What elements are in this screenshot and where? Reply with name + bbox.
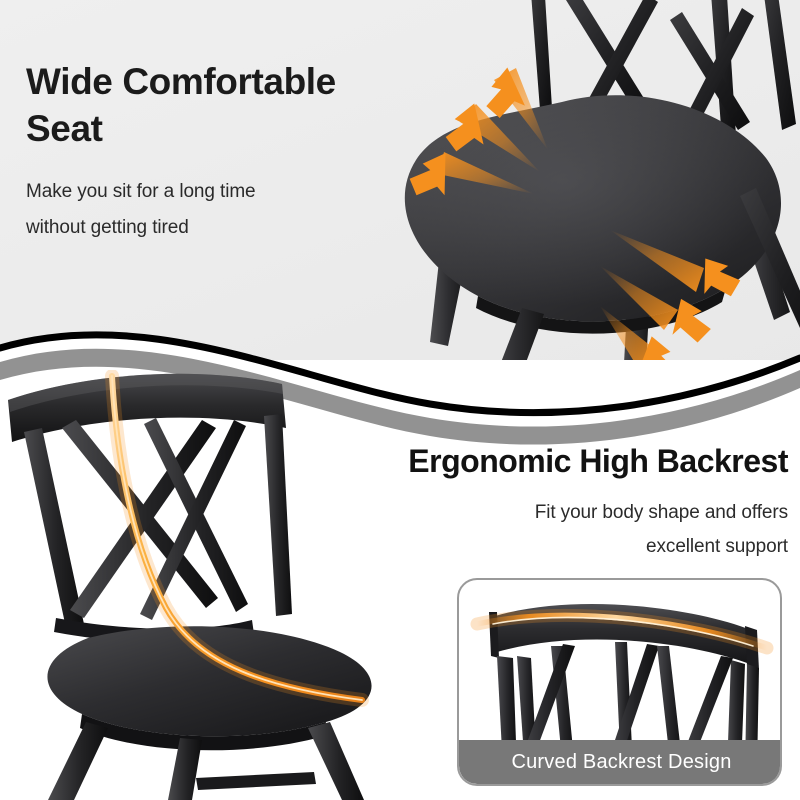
card-label: Curved Backrest Design: [459, 740, 782, 784]
top-text-block: Wide Comfortable Seat Make you sit for a…: [26, 58, 426, 246]
top-subtext: Make you sit for a long time without get…: [26, 174, 426, 246]
top-heading-line-2: Seat: [26, 105, 426, 152]
arrow-head-4: [695, 259, 744, 304]
curved-backrest-card: Curved Backrest Design: [457, 578, 782, 786]
top-subtext-line-2: without getting tired: [26, 210, 426, 246]
top-heading: Wide Comfortable Seat: [26, 58, 426, 152]
top-heading-line-1: Wide Comfortable: [26, 58, 426, 105]
top-subtext-line-1: Make you sit for a long time: [26, 174, 426, 210]
bottom-chair-side-profile-image: [0, 370, 410, 800]
infographic-stage: Wide Comfortable Seat Make you sit for a…: [0, 0, 800, 800]
bottom-subtext-line-2: excellent support: [258, 530, 788, 564]
bottom-subtext-line-1: Fit your body shape and offers: [258, 496, 788, 530]
seat-width-arrows-upper-left: [398, 40, 588, 200]
bottom-subtext: Fit your body shape and offers excellent…: [258, 496, 788, 564]
bottom-text-block: Ergonomic High Backrest Fit your body sh…: [258, 440, 788, 564]
bottom-heading: Ergonomic High Backrest: [258, 440, 788, 482]
